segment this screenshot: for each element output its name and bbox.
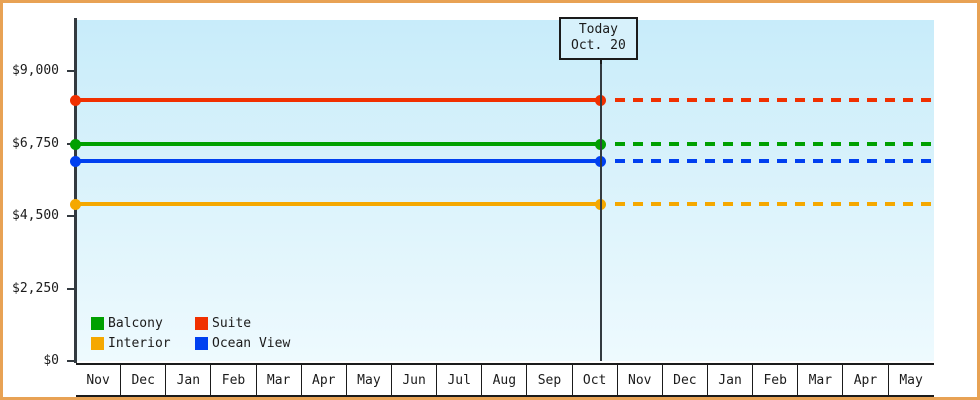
series-line-suite-solid [77,98,602,102]
chart-legend: Balcony Suite Interior Ocean View [91,313,290,353]
today-vertical-line [600,20,602,361]
today-callout-line2: Oct. 20 [571,38,626,54]
legend-item-balcony[interactable]: Balcony [91,313,191,333]
today-callout-box: Today Oct. 20 [559,17,638,60]
legend-swatch-suite-icon [195,317,208,330]
y-tick-4500 [67,215,76,217]
y-tick-0 [67,360,76,362]
x-axis-month-cell[interactable]: Mar [798,365,843,395]
series-point-interior-start [70,199,81,210]
series-line-interior-solid [77,202,602,206]
today-callout-line1: Today [571,22,626,38]
legend-item-suite[interactable]: Suite [195,313,290,333]
y-tick-2250 [67,288,76,290]
x-axis-month-scale: Nov Dec Jan Feb Mar Apr May Jun Jul Aug … [76,363,934,397]
x-axis-month-cell[interactable]: Jan [166,365,211,395]
x-axis-month-cell[interactable]: Dec [663,365,708,395]
x-axis-month-cell[interactable]: Oct [573,365,618,395]
x-axis-month-cell[interactable]: Feb [211,365,256,395]
series-line-suite-forecast [615,98,934,102]
y-axis-label-9000: $9,000 [12,64,59,77]
series-point-balcony-start [70,139,81,150]
x-axis-month-cell[interactable]: May [347,365,392,395]
series-point-suite-start [70,95,81,106]
y-axis-label-4500: $4,500 [12,209,59,222]
x-axis-month-cell[interactable]: Nov [618,365,663,395]
x-axis-month-cell[interactable]: Sep [527,365,572,395]
x-axis-month-cell[interactable]: Jun [392,365,437,395]
x-axis-month-cell[interactable]: Apr [843,365,888,395]
legend-swatch-interior-icon [91,337,104,350]
x-axis-month-cell[interactable]: Aug [482,365,527,395]
legend-label-ocean-view: Ocean View [212,337,290,350]
y-axis-label-6750: $6,750 [12,137,59,150]
legend-swatch-balcony-icon [91,317,104,330]
series-line-balcony-forecast [615,142,934,146]
x-axis-month-cell[interactable]: May [889,365,934,395]
x-axis-month-cell[interactable]: Dec [121,365,166,395]
x-axis-month-cell[interactable]: Feb [753,365,798,395]
series-line-interior-forecast [615,202,934,206]
series-line-ocean-view-forecast [615,159,934,163]
x-axis-month-cell[interactable]: Jul [437,365,482,395]
y-axis-label-0: $0 [43,354,59,367]
legend-label-interior: Interior [108,337,171,350]
legend-swatch-ocean-view-icon [195,337,208,350]
series-line-ocean-view-solid [77,159,602,163]
x-axis-month-cell[interactable]: Mar [257,365,302,395]
x-axis-month-cell[interactable]: Apr [302,365,347,395]
legend-item-ocean-view[interactable]: Ocean View [195,333,290,353]
legend-label-balcony: Balcony [108,317,163,330]
plot-area [77,20,934,361]
x-axis-month-cell[interactable]: Jan [708,365,753,395]
price-trend-chart: $9,000 $6,750 $4,500 $2,250 $0 Today Oct… [0,0,980,400]
series-point-ocean-view-start [70,156,81,167]
series-line-balcony-solid [77,142,602,146]
y-tick-9000 [67,70,76,72]
legend-item-interior[interactable]: Interior [91,333,191,353]
y-axis-label-2250: $2,250 [12,282,59,295]
legend-label-suite: Suite [212,317,251,330]
x-axis-month-cell[interactable]: Nov [76,365,121,395]
